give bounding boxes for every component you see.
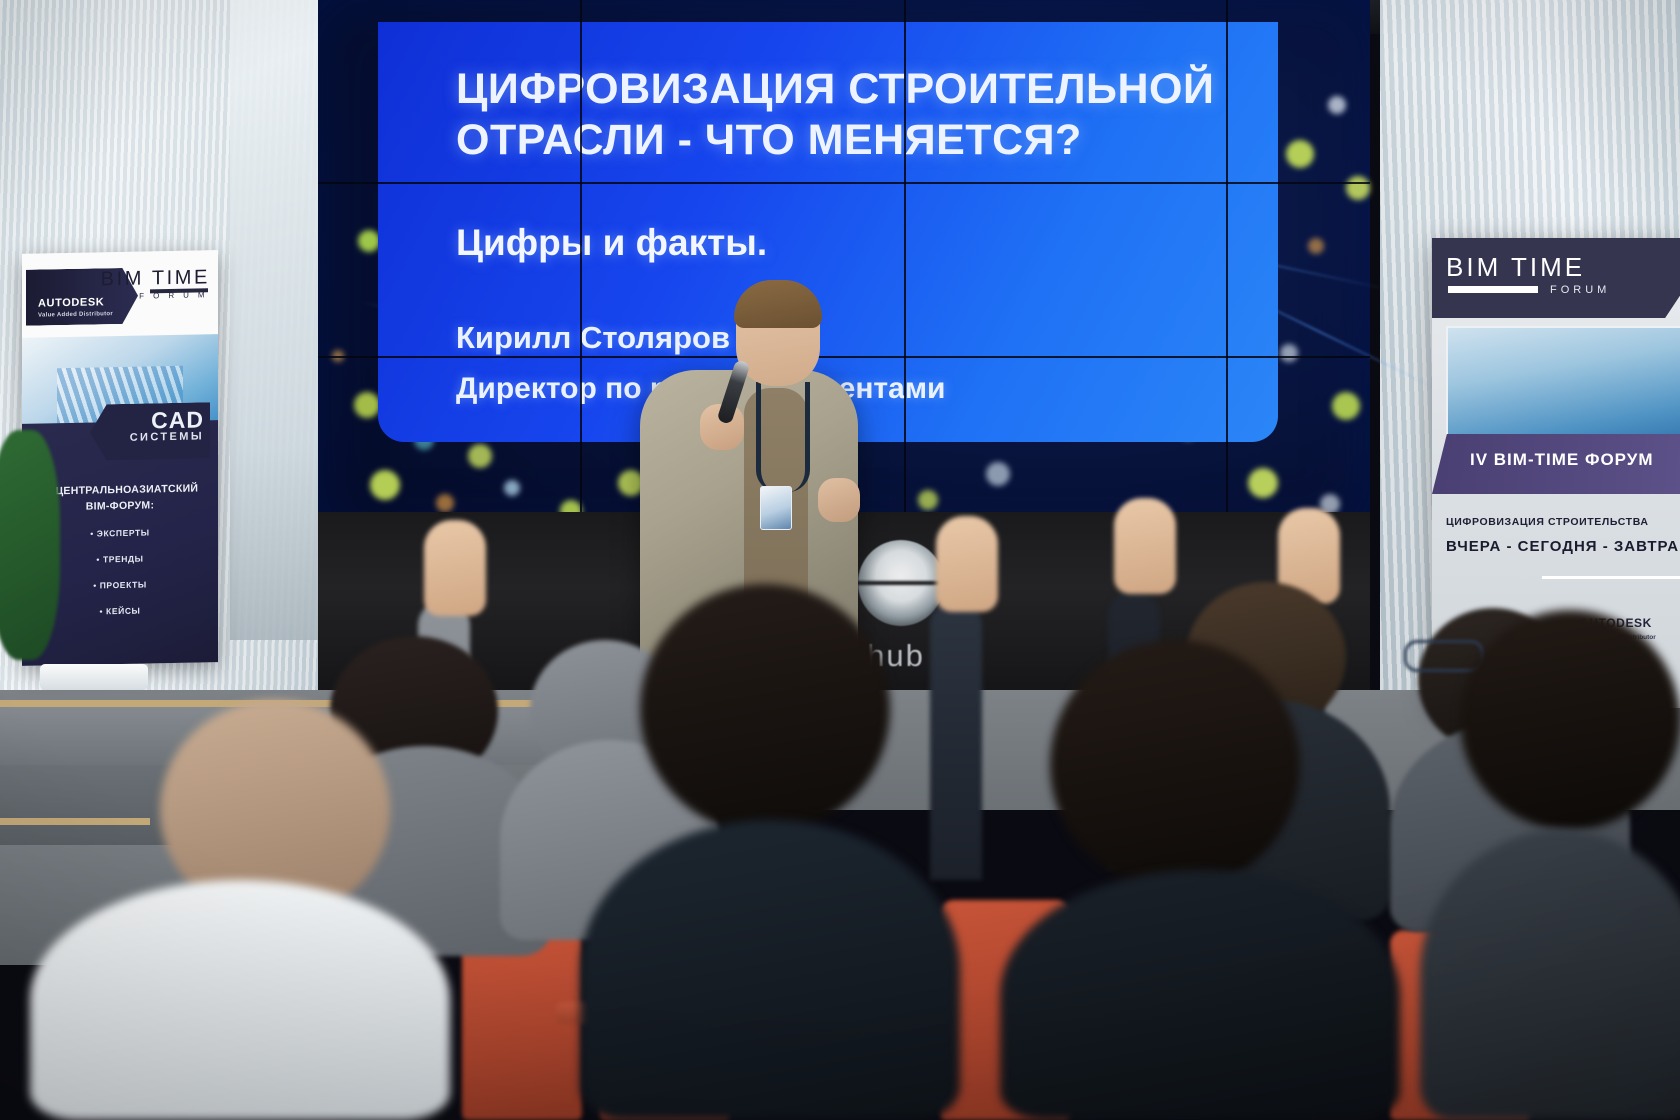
slide-title: ЦИФРОВИЗАЦИЯ СТРОИТЕЛЬНОЙ ОТРАСЛИ - ЧТО …	[456, 64, 1246, 165]
bezel-horizontal	[318, 182, 1370, 184]
raised-hand	[424, 520, 486, 616]
audience-shoulders-front	[1000, 870, 1400, 1120]
potted-plant	[0, 430, 60, 660]
audience-head-front	[640, 584, 890, 834]
autodesk-sublabel: Value Added Distributor	[38, 311, 113, 318]
banner-right-image	[1446, 326, 1680, 452]
banner-left-header: AUTODESK Value Added Distributor BIM TIM…	[22, 250, 218, 338]
step-edge-trim	[0, 818, 150, 825]
raised-hand	[1114, 498, 1176, 594]
bim-time-rule	[1448, 286, 1538, 293]
banner-right-band-text: IV BIM-TIME ФОРУМ	[1470, 450, 1654, 470]
auditorium-chair	[462, 930, 582, 1120]
raised-hand	[936, 516, 998, 612]
audience-arm	[930, 600, 982, 880]
speaker-badge	[760, 486, 792, 530]
cad-sublabel: СИСТЕМЫ	[130, 430, 204, 443]
speaker-lanyard	[756, 382, 810, 492]
forum-label: FORUM	[1550, 284, 1610, 296]
banner-left-base	[40, 664, 148, 690]
conference-photo-scene: ЦИФРОВИЗАЦИЯ СТРОИТЕЛЬНОЙ ОТРАСЛИ - ЧТО …	[0, 0, 1680, 1120]
banner-right-line-1: ЦИФРОВИЗАЦИЯ СТРОИТЕЛЬСТВА	[1446, 516, 1649, 528]
bezel-horizontal	[318, 356, 1370, 358]
slide-subtitle: Цифры и факты.	[456, 222, 767, 264]
bezel-vertical	[580, 0, 582, 540]
audience-shoulders-front	[580, 820, 960, 1120]
audience-shoulders-front	[30, 880, 450, 1120]
banner-right-line-2: ВЧЕРА - СЕГОДНЯ - ЗАВТРА	[1446, 538, 1679, 555]
bezel-vertical	[1226, 0, 1228, 540]
slide-speaker-name: Кирилл Столяров	[456, 320, 730, 356]
banner-right-header: BIM TIME FORUM	[1432, 238, 1680, 318]
speaker-hand	[818, 478, 860, 522]
forum-label: F O R U M	[139, 290, 208, 300]
audience-head-front	[1050, 640, 1300, 890]
venue-logo-icon	[858, 540, 944, 626]
banner-right-rule	[1542, 576, 1680, 579]
bim-time-label: BIM TIME	[1446, 252, 1585, 283]
audience-head-front	[1460, 610, 1680, 830]
audience-shoulders-front	[1420, 830, 1680, 1120]
bezel-vertical	[904, 0, 906, 540]
autodesk-label: AUTODESK	[38, 296, 104, 309]
